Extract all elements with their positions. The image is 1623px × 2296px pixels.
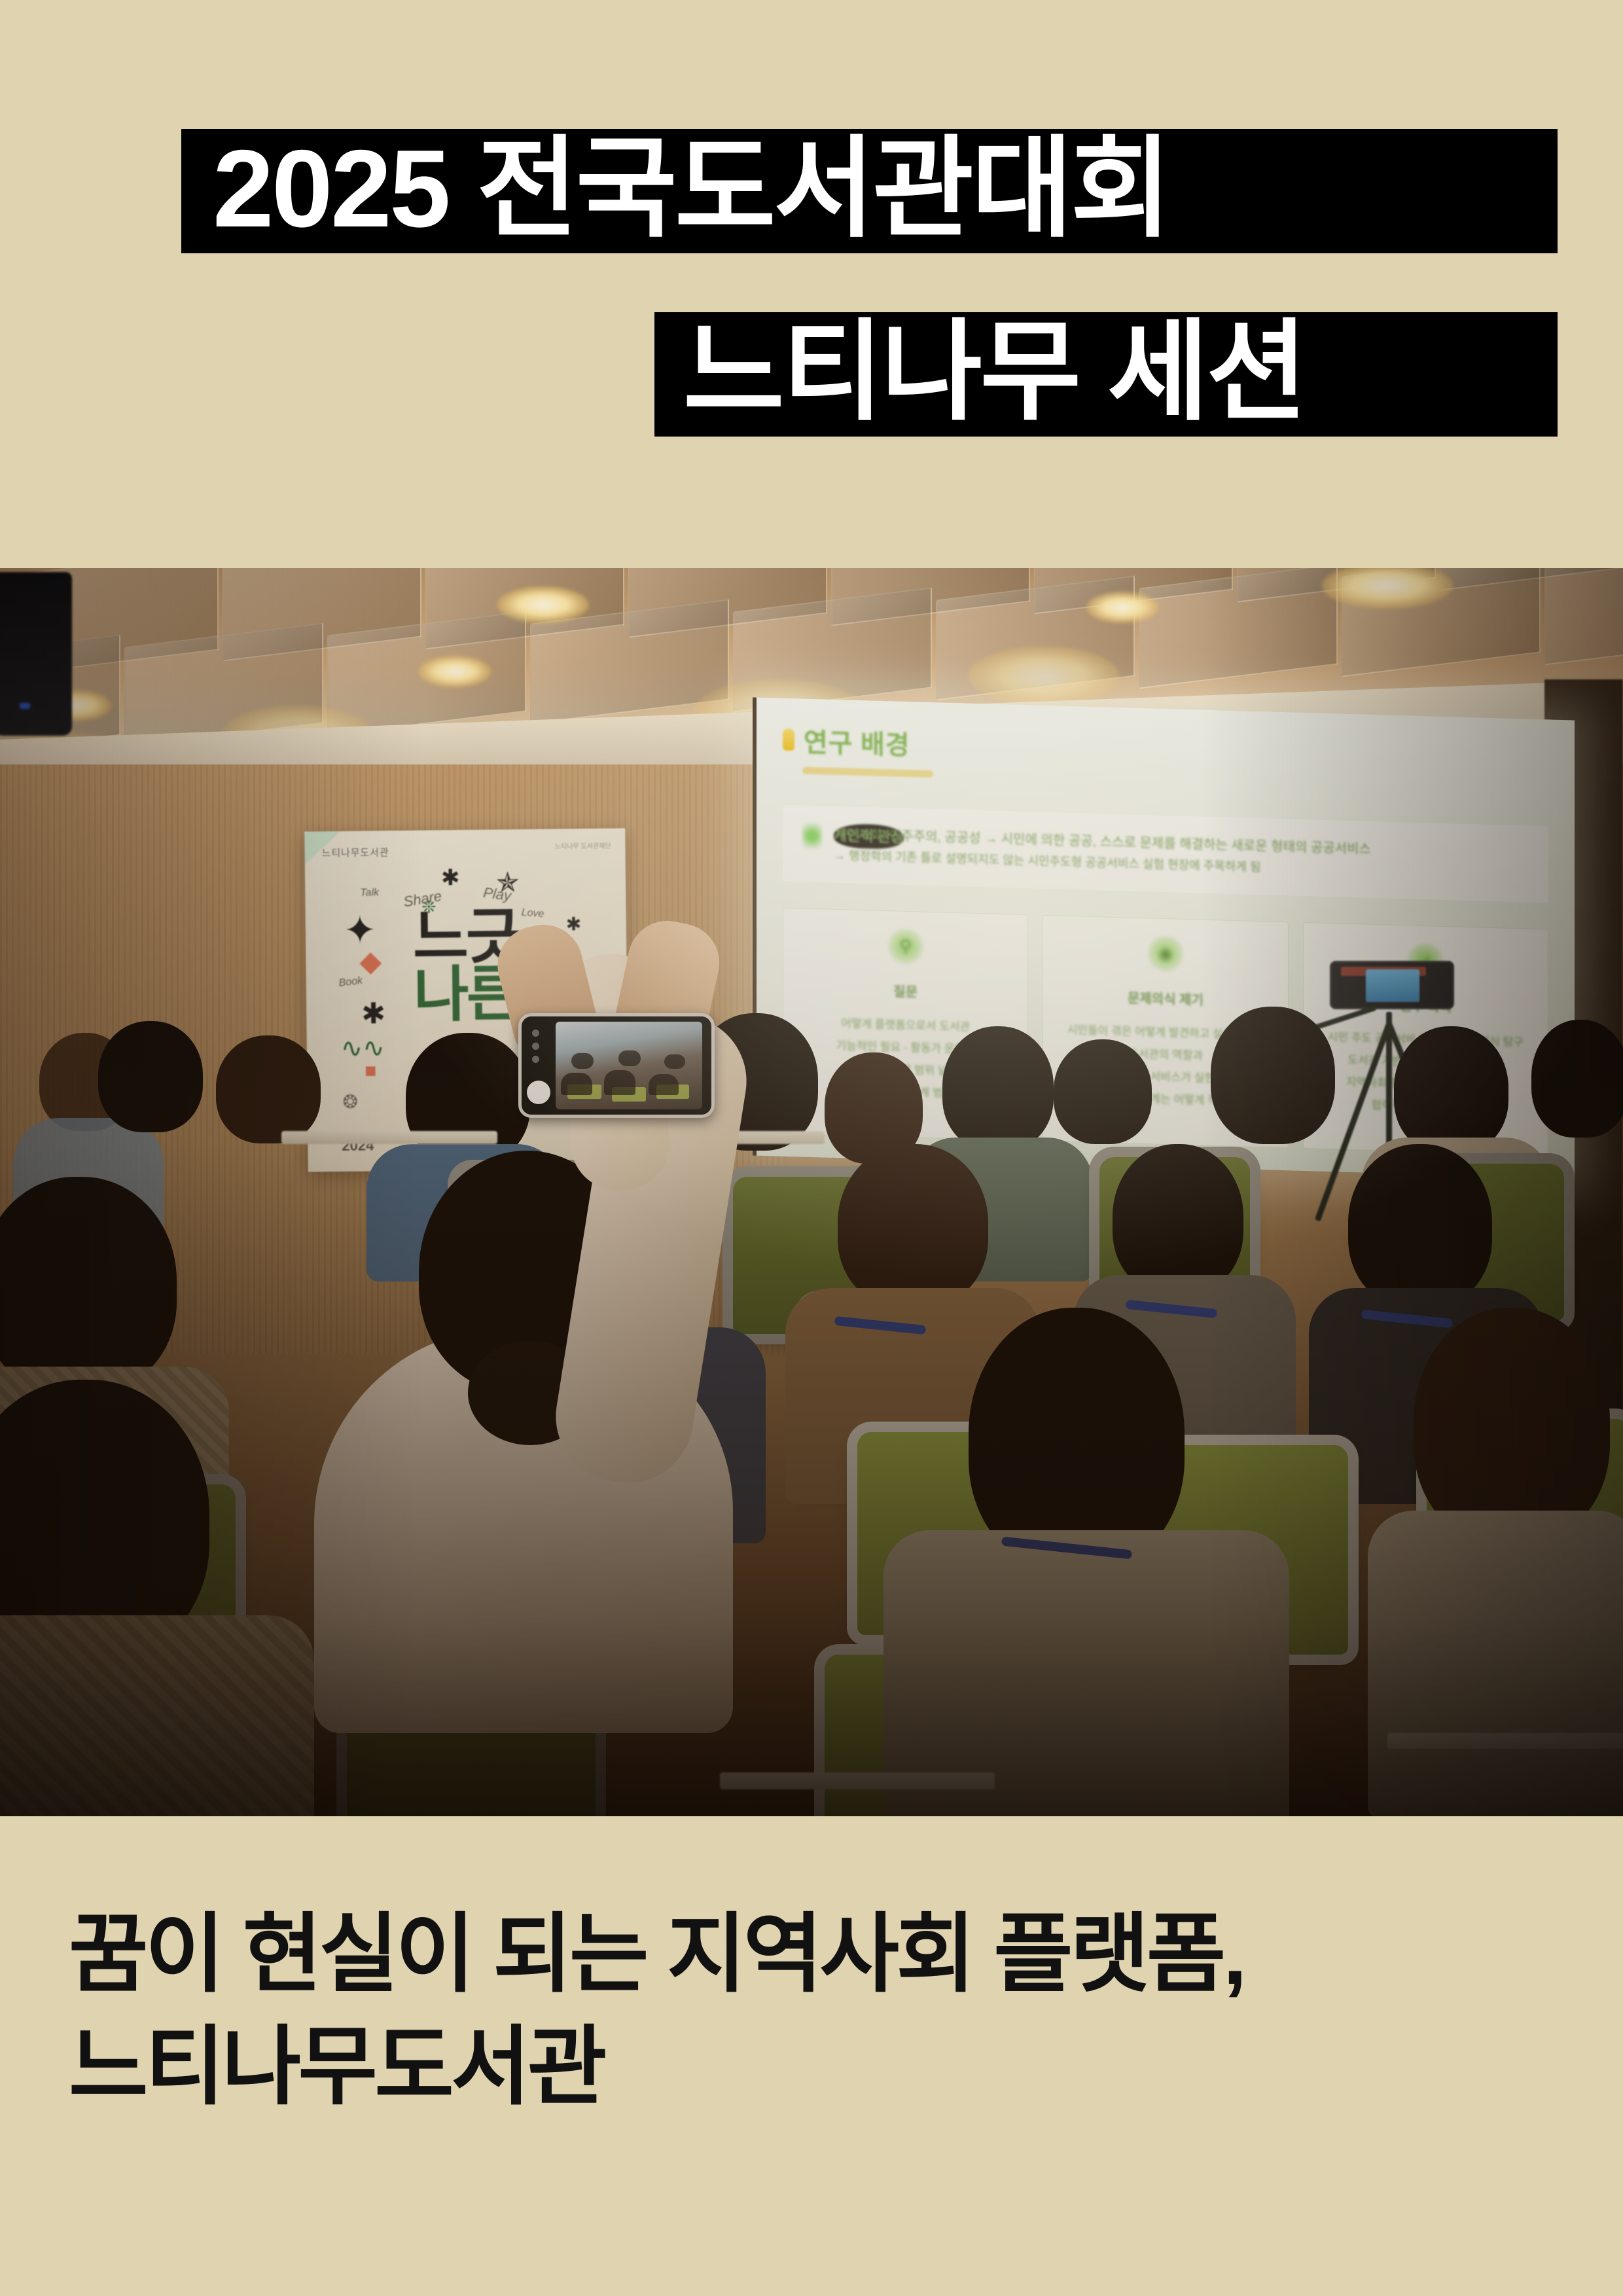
ceiling-light-icon (969, 647, 1119, 706)
attendee-head (216, 1035, 321, 1143)
attendee-head (0, 1177, 177, 1393)
desk-surface (720, 1772, 995, 1789)
desk-surface (1387, 1733, 1623, 1749)
phone-viewfinder (556, 1022, 702, 1109)
attendee-head (1113, 1144, 1243, 1295)
caption-line-1: 꿈이 현실이 되는 지역사회 플랫폼, (69, 1898, 1574, 2011)
shutter-button (527, 1081, 550, 1104)
target-icon: ◉ (1148, 935, 1183, 972)
slide-card-title: 문제의식 제기 (1052, 985, 1278, 1011)
title-line-2-block: 느티나무 세션 (654, 312, 1558, 437)
wall-poster-word: Talk (360, 887, 379, 899)
title-line-2-text: 느티나무 세션 (683, 317, 1306, 427)
slide-card-title: 질문 (793, 978, 1018, 1003)
smartphone-camera-icon (518, 1013, 715, 1118)
attendee-head (1211, 1007, 1335, 1144)
phone-control-dots (532, 1030, 540, 1069)
ceiling-light-icon (497, 586, 589, 623)
ceiling-light-icon (1086, 592, 1158, 623)
magnifier-icon: ⚲ (888, 928, 923, 965)
slide-header-underline (802, 767, 933, 778)
wall-poster-brand: 느티나무도서관 (322, 845, 389, 859)
attendee-head (942, 1026, 1054, 1151)
attendee-head (1531, 1020, 1623, 1138)
star-icon: ✱ (441, 867, 460, 889)
caption: 꿈이 현실이 되는 지역사회 플랫폼, 느티나무도서관 (69, 1898, 1574, 2123)
audience (0, 1026, 1623, 1816)
conference-photo: 연구 배경 개인적 관심 시민사회, 민주주의, 공공성 → 시민에 의한 공공… (0, 568, 1623, 1816)
poster-root: 2025 전국도서관대회 느티나무 세션 (0, 0, 1623, 2296)
attendee-head (1414, 1308, 1610, 1543)
title-line-1-block: 2025 전국도서관대회 (181, 129, 1558, 253)
attendee-taking-photo (308, 935, 766, 1720)
caption-line-2: 느티나무도서관 (69, 2011, 1574, 2123)
attendee-head (98, 1021, 203, 1132)
bullet-icon (802, 823, 822, 850)
attendee-head (838, 1144, 988, 1308)
slide-intro-box: 개인적 관심 시민사회, 민주주의, 공공성 → 시민에 의한 공공, 스스로 … (783, 805, 1548, 903)
slide-header-text: 연구 배경 (804, 721, 910, 762)
ceiling-light-icon (419, 656, 491, 687)
attendee-head (1054, 1039, 1152, 1144)
attendee-body (0, 1615, 314, 1816)
star-icon: ✯ (496, 869, 520, 896)
lightbulb-icon (783, 728, 794, 751)
attendee-head (1394, 1026, 1508, 1154)
wall-poster-brand-sub: 느티나무 도서관재단 (555, 842, 611, 852)
ceiling-speaker (0, 572, 72, 736)
attendee-head (1348, 1144, 1492, 1308)
title-area: 2025 전국도서관대회 느티나무 세션 (0, 0, 1623, 568)
title-line-1-text: 2025 전국도서관대회 (213, 134, 1169, 243)
attendee-body (1368, 1511, 1623, 1816)
